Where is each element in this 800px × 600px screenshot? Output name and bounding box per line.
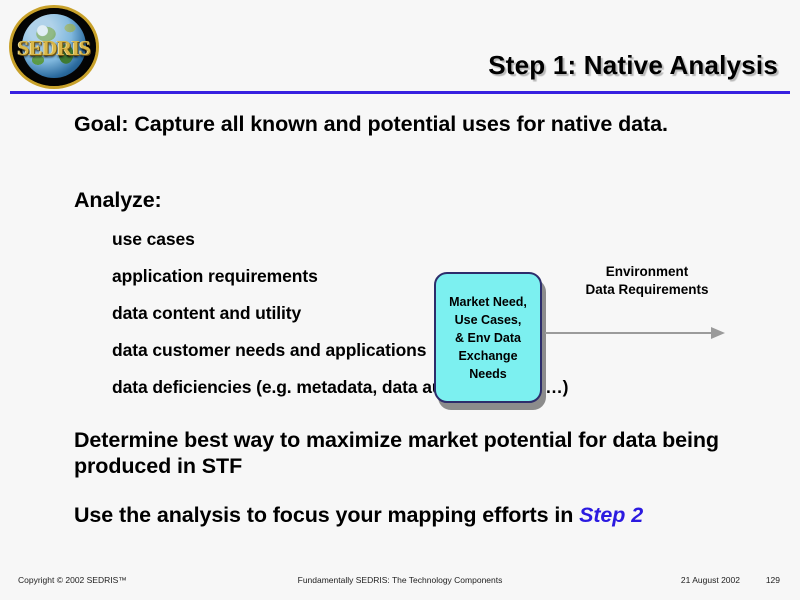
slide-body: Goal: Capture all known and potential us… (0, 95, 800, 565)
flow-box-line: Exchange (458, 347, 517, 365)
flow-box-market-need: Market Need, Use Cases, & Env Data Excha… (434, 272, 542, 403)
slide-header: SEDRIS Step 1: Native Analysis (0, 0, 800, 95)
page-title: Step 1: Native Analysis (488, 50, 778, 81)
bullet-use-analysis: Use the analysis to focus your mapping e… (74, 502, 774, 528)
sub-bullet-use-cases: use cases (112, 229, 195, 250)
sub-bullet-data-content-and-utility: data content and utility (112, 303, 301, 324)
sedris-globe-logo: SEDRIS (8, 6, 100, 86)
footer-page-number: 129 (766, 575, 780, 585)
sub-bullet-data-customer-needs: data customer needs and applications (112, 340, 426, 361)
arrow-shaft (545, 332, 713, 334)
flow-box-line: Use Cases, (455, 311, 522, 329)
arrow-label: Environment Data Requirements (547, 263, 747, 299)
arrow-label-line-2: Data Requirements (547, 281, 747, 299)
arrow-label-line-1: Environment (547, 263, 747, 281)
flow-box-line: Market Need, (449, 293, 527, 311)
right-arrow-icon (545, 327, 727, 339)
bullet-determine: Determine best way to maximize market po… (74, 427, 774, 479)
native-analysis-diagram: Market Need, Use Cases, & Env Data Excha… (425, 263, 745, 413)
use-analysis-text: Use the analysis to focus your mapping e… (74, 503, 579, 527)
step-2-link[interactable]: Step 2 (579, 503, 643, 527)
bullet-analyze-heading: Analyze: (74, 187, 162, 213)
bullet-goal: Goal: Capture all known and potential us… (74, 111, 764, 137)
slide-root: { "slide": { "title": "Step 1: Native An… (0, 0, 800, 600)
sub-bullet-application-requirements: application requirements (112, 266, 318, 287)
footer-date: 21 August 2002 (681, 575, 740, 585)
flow-box-line: & Env Data (455, 329, 521, 347)
slide-footer: Copyright © 2002 SEDRIS™ Fundamentally S… (0, 568, 800, 600)
flow-box-line: Needs (469, 365, 507, 383)
logo-wordmark: SEDRIS (8, 36, 100, 61)
arrow-head (711, 327, 725, 339)
title-divider (10, 91, 790, 94)
